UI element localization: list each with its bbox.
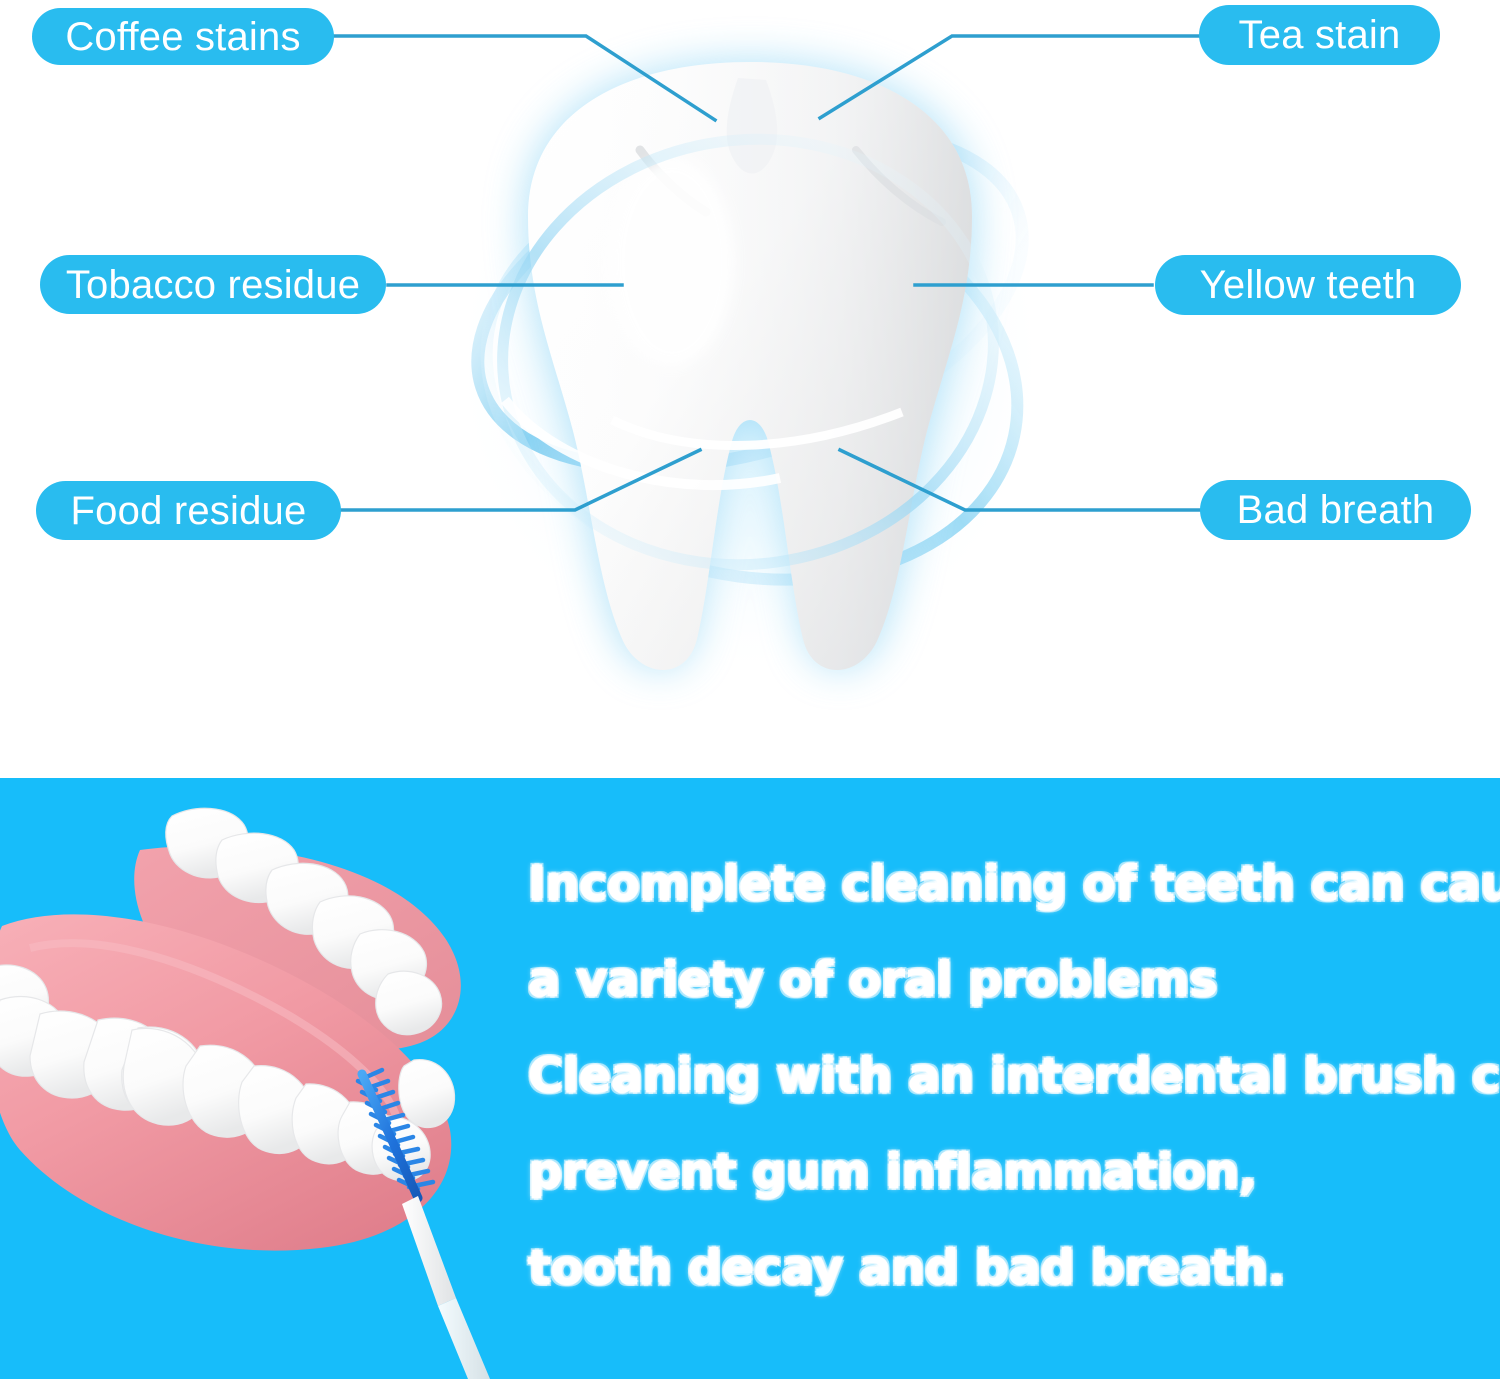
caption-panel: Incomplete cleaning of teeth can cause a…: [0, 778, 1500, 1379]
label-pill-coffee-stains[interactable]: Coffee stains: [32, 8, 334, 65]
product-infographic: Coffee stains Tobacco residue Food resid…: [0, 0, 1500, 1379]
dental-model-illustration: [0, 778, 510, 1379]
label-text-tobacco-residue: Tobacco residue: [66, 265, 360, 305]
tooth-illustration: [0, 0, 1500, 778]
caption-text-block: Incomplete cleaning of teeth can cause a…: [528, 860, 1468, 1292]
brush-handle: [402, 1196, 456, 1306]
label-text-coffee-stains: Coffee stains: [65, 17, 300, 57]
label-pill-tobacco-residue[interactable]: Tobacco residue: [40, 255, 386, 314]
caption-line-4: prevent gum inflammation,: [528, 1148, 1468, 1196]
label-pill-tea-stain[interactable]: Tea stain: [1199, 5, 1440, 65]
label-pill-yellow-teeth[interactable]: Yellow teeth: [1155, 255, 1461, 315]
caption-line-5: tooth decay and bad breath.: [528, 1244, 1468, 1292]
label-text-yellow-teeth: Yellow teeth: [1200, 265, 1417, 305]
caption-line-1: Incomplete cleaning of teeth can cause: [528, 860, 1468, 908]
tooth-diagram-panel: Coffee stains Tobacco residue Food resid…: [0, 0, 1500, 778]
label-pill-food-residue[interactable]: Food residue: [36, 481, 341, 540]
caption-line-3: Cleaning with an interdental brush can: [528, 1052, 1468, 1100]
caption-line-2: a variety of oral problems: [528, 956, 1468, 1004]
label-pill-bad-breath[interactable]: Bad breath: [1200, 480, 1471, 540]
label-text-bad-breath: Bad breath: [1237, 490, 1435, 530]
label-text-tea-stain: Tea stain: [1239, 15, 1401, 55]
label-text-food-residue: Food residue: [71, 491, 307, 531]
